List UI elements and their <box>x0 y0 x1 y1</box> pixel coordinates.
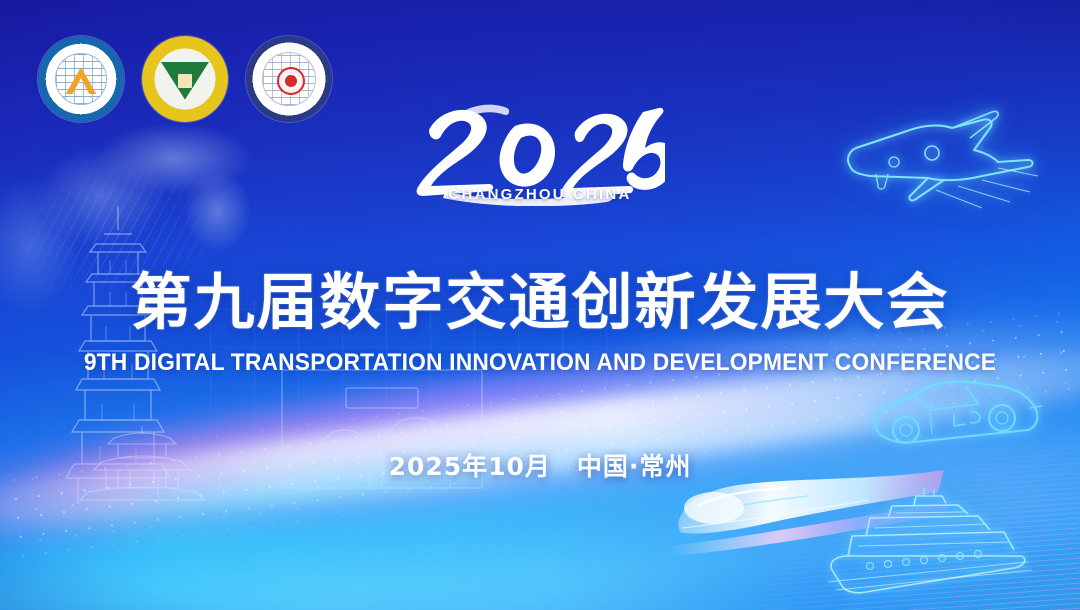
page-title: 第九届数字交通创新发展大会 <box>0 272 1080 333</box>
airplane-icon <box>832 104 1042 214</box>
conference-poster: CHANGZHOU·CHINA 第九届数字交通创新发展大会 9TH DIGITA… <box>0 0 1080 610</box>
car-icon <box>870 372 1046 456</box>
ship-icon <box>818 486 1058 606</box>
year-subtitle: CHANGZHOU·CHINA <box>449 186 632 203</box>
red-seal-icon <box>277 67 305 95</box>
hall-building-icon <box>178 74 192 88</box>
